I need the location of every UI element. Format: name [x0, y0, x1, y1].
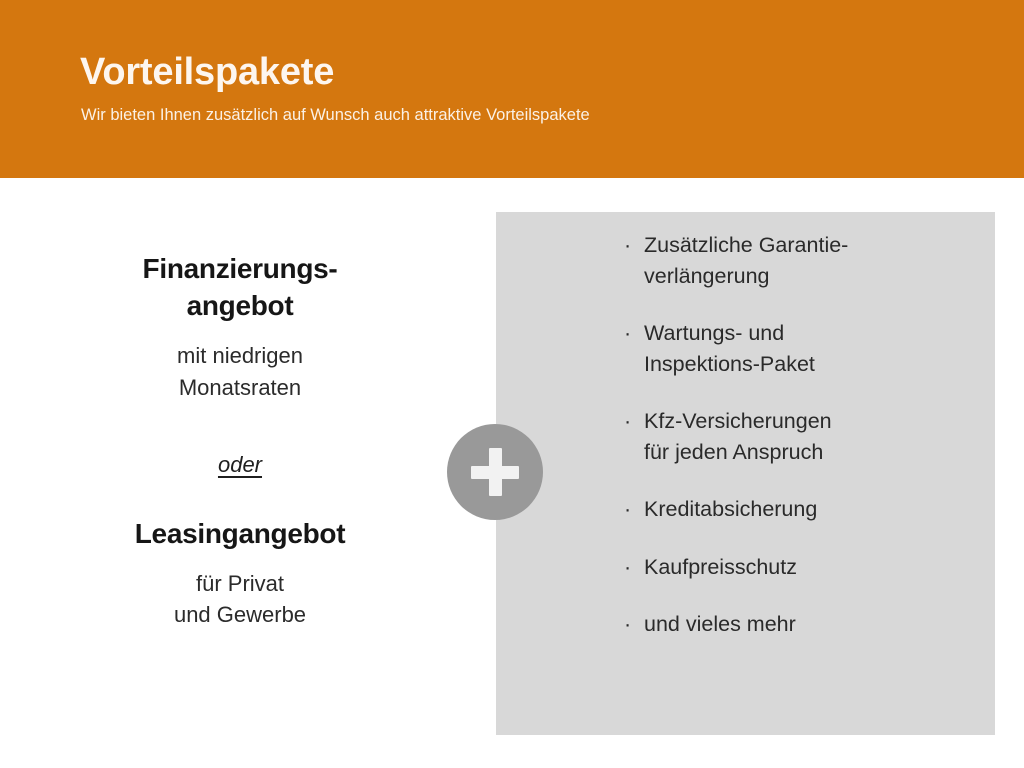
- bullet-icon: ·: [624, 230, 631, 261]
- financing-heading-line-2: angebot: [187, 290, 294, 321]
- benefit-text: Zusätzliche Garantie- verlängerung: [644, 230, 973, 291]
- benefit-line-1: Kfz-Versicherungen: [644, 406, 973, 437]
- benefit-line-2: für jeden Anspruch: [644, 437, 973, 468]
- list-item: · Kfz-Versicherungen für jeden Anspruch: [623, 406, 973, 467]
- bullet-icon: ·: [624, 406, 631, 437]
- leasing-offer-heading: Leasingangebot: [40, 515, 440, 552]
- benefit-line-1: Wartungs- und: [644, 318, 973, 349]
- list-item: · Wartungs- und Inspektions-Paket: [623, 318, 973, 379]
- benefits-panel: · Zusätzliche Garantie- verlängerung · W…: [496, 212, 995, 735]
- bullet-icon: ·: [624, 609, 631, 640]
- offer-divider: oder: [40, 452, 440, 478]
- benefit-text: und vieles mehr: [644, 609, 973, 640]
- offers-column: Finanzierungs- angebot mit niedrigen Mon…: [40, 178, 440, 768]
- bullet-icon: ·: [624, 494, 631, 525]
- list-item: · Kaufpreisschutz: [623, 552, 973, 583]
- benefit-line-1: Kaufpreisschutz: [644, 552, 973, 583]
- list-item: · und vieles mehr: [623, 609, 973, 640]
- financing-offer-heading: Finanzierungs- angebot: [40, 250, 440, 324]
- leasing-description-line-1: für Privat: [40, 568, 440, 599]
- financing-offer-description: mit niedrigen Monatsraten: [40, 340, 440, 402]
- benefit-text: Kreditabsicherung: [644, 494, 973, 525]
- page-subtitle: Wir bieten Ihnen zusätzlich auf Wunsch a…: [81, 106, 590, 126]
- financing-description-line-2: Monatsraten: [40, 372, 440, 403]
- offer-divider-label: oder: [218, 452, 262, 477]
- benefit-line-1: Zusätzliche Garantie-: [644, 230, 973, 261]
- leasing-offer-description: für Privat und Gewerbe: [40, 568, 440, 630]
- plus-icon: [447, 424, 543, 520]
- benefit-line-1: Kreditabsicherung: [644, 494, 973, 525]
- financing-offer-block: Finanzierungs- angebot mit niedrigen Mon…: [40, 250, 440, 403]
- benefit-text: Wartungs- und Inspektions-Paket: [644, 318, 973, 379]
- financing-heading-line-1: Finanzierungs-: [143, 253, 338, 284]
- page-header-banner: Vorteilspakete Wir bieten Ihnen zusätzli…: [0, 0, 1024, 178]
- main-content: Finanzierungs- angebot mit niedrigen Mon…: [0, 178, 1024, 768]
- financing-description-line-1: mit niedrigen: [40, 340, 440, 371]
- benefits-list: · Zusätzliche Garantie- verlängerung · W…: [623, 230, 973, 640]
- leasing-description-line-2: und Gewerbe: [40, 599, 440, 630]
- bullet-icon: ·: [624, 318, 631, 349]
- page-title: Vorteilspakete: [80, 53, 334, 91]
- leasing-offer-block: Leasingangebot für Privat und Gewerbe: [40, 515, 440, 631]
- benefit-line-1: und vieles mehr: [644, 609, 973, 640]
- benefit-line-2: Inspektions-Paket: [644, 349, 973, 380]
- benefit-line-2: verlängerung: [644, 261, 973, 292]
- list-item: · Kreditabsicherung: [623, 494, 973, 525]
- bullet-icon: ·: [624, 552, 631, 583]
- benefit-text: Kaufpreisschutz: [644, 552, 973, 583]
- benefit-text: Kfz-Versicherungen für jeden Anspruch: [644, 406, 973, 467]
- plus-icon-vertical-bar: [489, 448, 502, 496]
- list-item: · Zusätzliche Garantie- verlängerung: [623, 230, 973, 291]
